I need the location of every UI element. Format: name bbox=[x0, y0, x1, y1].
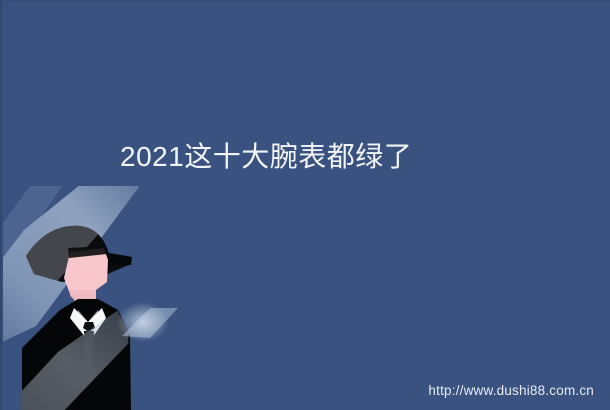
page-title: 2021这十大腕表都绿了 bbox=[120, 138, 540, 176]
illustration-man-in-fedora bbox=[0, 186, 200, 410]
cover-image: 2021这十大腕表都绿了 http://www.dushi88.com.cn bbox=[0, 0, 610, 410]
top-edge-shade bbox=[0, 0, 610, 2]
watermark-url: http://www.dushi88.com.cn bbox=[428, 383, 594, 399]
